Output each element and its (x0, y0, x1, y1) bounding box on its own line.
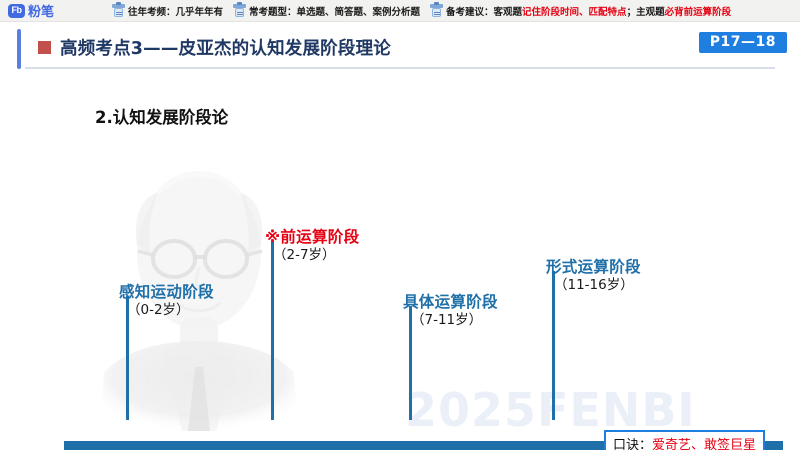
promo-topbar: Fb 粉笔 往年考频：几乎年年有 常考题型：单选题、简答题、案例分析题 备考建议… (0, 0, 800, 22)
promo-item-study-advice: 备考建议：客观题记住阶段时间、匹配特点；主观题必背前运算阶段 (430, 3, 731, 18)
emphasis-asterisk-icon: ※ (265, 228, 280, 246)
stage-age-range: （0-2岁） (119, 302, 214, 319)
title-divider (25, 67, 775, 69)
slide-canvas: 高频考点3——皮亚杰的认知发展阶段理论 P17—18 2.认知发展阶段论 (0, 21, 800, 450)
graduation-student-icon (233, 3, 246, 18)
slide-left-accent-bar (17, 29, 21, 69)
timeline-stage-2: ※前运算阶段 （2-7岁） (265, 228, 359, 264)
stage-name: 形式运算阶段 (546, 258, 641, 277)
mnemonic-label: 口诀： (613, 438, 652, 450)
timeline-stage-3: 具体运算阶段 （7-11岁） (403, 293, 498, 329)
timeline-tick-stage-2 (271, 241, 274, 420)
title-bullet-icon (38, 41, 51, 54)
timeline-stage-4: 形式运算阶段 （11-16岁） (546, 258, 641, 294)
stage-name: 感知运动阶段 (119, 283, 214, 302)
fenbi-logo-mark-icon: Fb (8, 4, 25, 18)
promo-item-text: 常考题型：单选题、简答题、案例分析题 (249, 4, 420, 18)
stage-age-range: （2-7岁） (265, 247, 359, 264)
mnemonic-value: 爱奇艺、敢签巨星 (652, 438, 756, 450)
fenbi-logo[interactable]: Fb 粉笔 (0, 0, 112, 21)
timeline-stage-1: 感知运动阶段 （0-2岁） (119, 283, 214, 319)
promo-item-text: 往年考频：几乎年年有 (128, 4, 223, 18)
stage-name: 具体运算阶段 (403, 293, 498, 312)
slide-title-row: 高频考点3——皮亚杰的认知发展阶段理论 (38, 35, 391, 60)
page-number-badge: P17—18 (699, 32, 787, 53)
mnemonic-box: 口诀：爱奇艺、敢签巨星 (604, 430, 765, 450)
promo-item-question-types: 常考题型：单选题、简答题、案例分析题 (233, 3, 420, 18)
promo-item-text: 备考建议：客观题记住阶段时间、匹配特点；主观题必背前运算阶段 (446, 4, 731, 18)
brand-watermark: 2025FENBI (405, 387, 696, 433)
page-title: 高频考点3——皮亚杰的认知发展阶段理论 (60, 35, 391, 60)
graduation-student-icon (430, 3, 443, 18)
promo-item-exam-frequency: 往年考频：几乎年年有 (112, 3, 223, 18)
stage-age-range: （7-11岁） (403, 312, 498, 329)
graduation-student-icon (112, 3, 125, 18)
stage-age-range: （11-16岁） (546, 277, 641, 294)
stage-name: ※前运算阶段 (265, 228, 359, 247)
section-subtitle: 2.认知发展阶段论 (95, 104, 228, 128)
fenbi-logo-text: 粉笔 (28, 1, 54, 20)
